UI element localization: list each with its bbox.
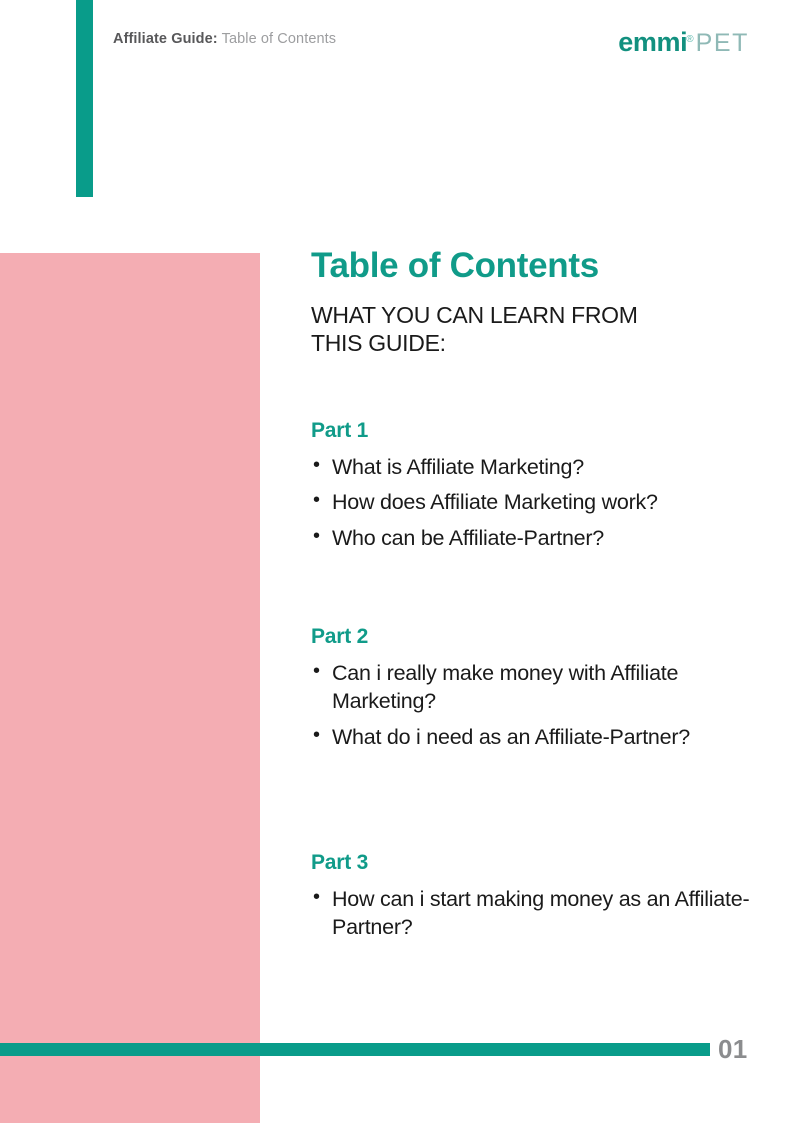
logo-primary-text: emmi: [618, 27, 687, 57]
toc-list-part-2: Can i really make money with Affiliate M…: [311, 659, 756, 751]
toc-list-part-1: What is Affiliate Marketing? How does Af…: [311, 453, 756, 552]
breadcrumb-guide-label: Affiliate Guide:: [113, 31, 218, 47]
breadcrumb-section-label: Table of Contents: [222, 31, 337, 47]
brand-logo: emmi®PET: [618, 29, 749, 56]
part-heading-3: Part 3: [311, 851, 756, 875]
page-subtitle-line-2: THIS GUIDE:: [311, 330, 446, 356]
toc-list-part-3: How can i start making money as an Affil…: [311, 885, 756, 942]
header-accent-bar: [76, 0, 93, 197]
toc-section-part-2: Part 2 Can i really make money with Affi…: [311, 625, 756, 758]
page-number: 01: [718, 1034, 748, 1065]
list-item: How can i start making money as an Affil…: [311, 885, 756, 942]
document-page: Affiliate Guide: Table of Contents emmi®…: [0, 0, 794, 1123]
list-item: What is Affiliate Marketing?: [311, 453, 756, 481]
registered-trademark-icon: ®: [686, 34, 693, 45]
list-item: Can i really make money with Affiliate M…: [311, 659, 756, 716]
title-block: Table of Contents WHAT YOU CAN LEARN FRO…: [311, 248, 751, 357]
list-item: Who can be Affiliate-Partner?: [311, 524, 756, 552]
page-subtitle: WHAT YOU CAN LEARN FROM THIS GUIDE:: [311, 301, 751, 357]
pink-side-panel: [0, 253, 260, 1123]
list-item: How does Affiliate Marketing work?: [311, 488, 756, 516]
part-heading-2: Part 2: [311, 625, 756, 649]
footer-accent-bar: [0, 1043, 710, 1056]
page-subtitle-line-1: WHAT YOU CAN LEARN FROM: [311, 302, 638, 328]
toc-section-part-1: Part 1 What is Affiliate Marketing? How …: [311, 419, 756, 559]
logo-secondary-text: PET: [696, 29, 749, 57]
page-title: Table of Contents: [311, 248, 751, 285]
toc-section-part-3: Part 3 How can i start making money as a…: [311, 851, 756, 949]
breadcrumb: Affiliate Guide: Table of Contents: [113, 31, 336, 47]
part-heading-1: Part 1: [311, 419, 756, 443]
list-item: What do i need as an Affiliate-Partner?: [311, 723, 756, 751]
